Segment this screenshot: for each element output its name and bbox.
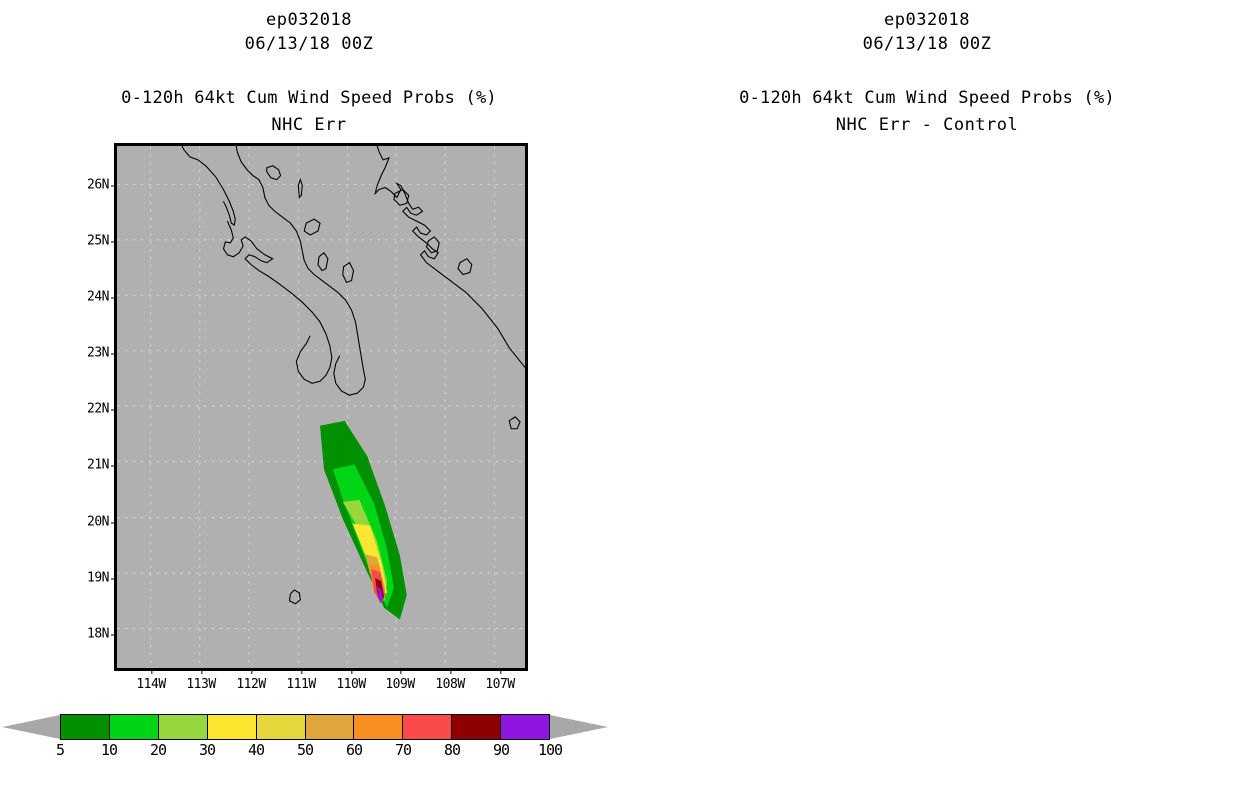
cticklabel-20: 20 — [150, 741, 166, 759]
cseg-10-20 — [110, 714, 159, 740]
colorbar-probability[interactable]: 5 10 20 30 40 50 60 70 80 90 100 — [60, 714, 550, 740]
cseg-30-40 — [208, 714, 257, 740]
colorbar-left-ticklabels: 5 10 20 30 40 50 60 70 80 90 100 — [60, 741, 550, 763]
left-xtick-107W: 107W — [485, 668, 514, 692]
colorbar-left-over-arrow — [550, 714, 608, 740]
cticklabel-60: 60 — [346, 741, 362, 759]
cseg-50-60 — [306, 714, 355, 740]
cseg-5-10 — [60, 714, 110, 740]
map-left-gridlines — [117, 146, 525, 668]
left-xtick-114W: 114W — [136, 668, 165, 692]
left-xtick-109W: 109W — [385, 668, 414, 692]
cseg-80-90 — [452, 714, 501, 740]
left-chart-title: 0-120h 64kt Cum Wind Speed Probs (%) — [0, 88, 618, 108]
left-ytick-23N: 23N — [87, 346, 117, 361]
right-chart-title: 0-120h 64kt Cum Wind Speed Probs (%) — [618, 88, 1236, 108]
cseg-70-80 — [403, 714, 452, 740]
cseg-20-30 — [159, 714, 208, 740]
left-ytick-18N: 18N — [87, 627, 117, 642]
cseg-60-70 — [354, 714, 403, 740]
left-xtick-113W: 113W — [186, 668, 215, 692]
panel-nhc-err-minus-control: ep032018 06/13/18 00Z 0-120h 64kt Cum Wi… — [618, 0, 1236, 800]
right-chart-subtitle: NHC Err - Control — [618, 115, 1236, 135]
cticklabel-70: 70 — [395, 741, 411, 759]
left-ytick-22N: 22N — [87, 402, 117, 417]
left-valid-time: 06/13/18 00Z — [0, 34, 618, 54]
probability-contours — [320, 421, 407, 620]
left-ytick-26N: 26N — [87, 178, 117, 193]
cticklabel-10: 10 — [101, 741, 117, 759]
colorbar-left-under-arrow — [2, 714, 60, 740]
colorbar-left-segments — [60, 714, 550, 740]
left-storm-id: ep032018 — [0, 10, 618, 30]
map-left-canvas — [117, 146, 525, 668]
cseg-40-50 — [257, 714, 306, 740]
cseg-90-100 — [501, 714, 550, 740]
map-nhc-err[interactable]: 26N 25N 24N 23N 22N 21N 20N 19N 18N 114W… — [114, 143, 528, 671]
left-xtick-111W: 111W — [286, 668, 315, 692]
left-xtick-108W: 108W — [435, 668, 464, 692]
cticklabel-30: 30 — [199, 741, 215, 759]
left-xtick-112W: 112W — [236, 668, 265, 692]
cticklabel-90: 90 — [493, 741, 509, 759]
left-ytick-19N: 19N — [87, 571, 117, 586]
left-chart-subtitle: NHC Err — [0, 115, 618, 135]
left-xtick-110W: 110W — [336, 668, 365, 692]
left-ytick-21N: 21N — [87, 458, 117, 473]
cticklabel-100: 100 — [538, 741, 562, 759]
right-storm-id: ep032018 — [618, 10, 1236, 30]
left-ytick-24N: 24N — [87, 290, 117, 305]
map-left-clip — [117, 146, 525, 668]
cticklabel-50: 50 — [297, 741, 313, 759]
cticklabel-40: 40 — [248, 741, 264, 759]
panel-nhc-err: ep032018 06/13/18 00Z 0-120h 64kt Cum Wi… — [0, 0, 618, 800]
left-ytick-20N: 20N — [87, 515, 117, 530]
cticklabel-80: 80 — [444, 741, 460, 759]
left-ytick-25N: 25N — [87, 234, 117, 249]
right-valid-time: 06/13/18 00Z — [618, 34, 1236, 54]
figure-root: ep032018 06/13/18 00Z 0-120h 64kt Cum Wi… — [0, 0, 1236, 800]
cticklabel-5: 5 — [56, 741, 64, 759]
